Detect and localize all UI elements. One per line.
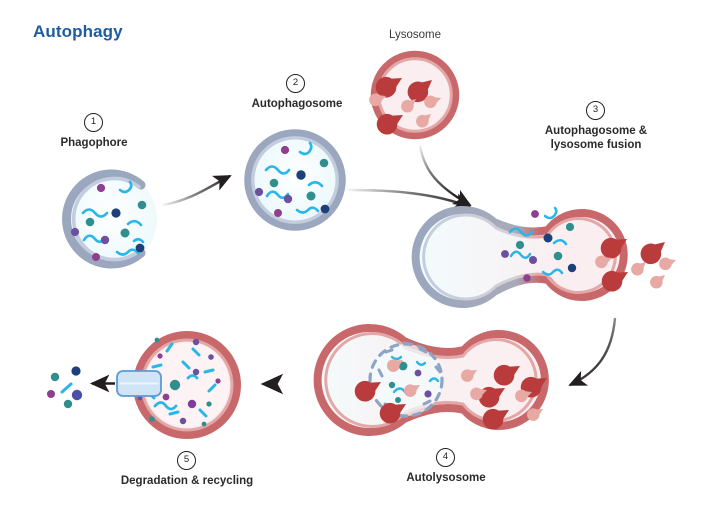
lysosome-graphic xyxy=(367,51,459,139)
arrow-fusion-to-autolysosome xyxy=(570,318,615,385)
arrow-phagophore-to-autophagosome xyxy=(163,176,230,205)
diagram-graphics xyxy=(0,0,720,530)
autophagy-diagram-canvas: Autophagy xyxy=(0,0,720,530)
stage-label-autolysosome: Autolysosome xyxy=(385,471,507,485)
stage-label-autophagosome: Autophagosome xyxy=(232,97,362,111)
stage-badge-4: 4 xyxy=(436,448,455,467)
stage-badge-3: 3 xyxy=(586,101,605,120)
stage-label-phagophore: Phagophore xyxy=(44,136,144,150)
stage-badge-1: 1 xyxy=(84,113,103,132)
stage-fusion-graphic xyxy=(416,208,679,304)
stage-degradation-graphic xyxy=(47,331,241,439)
stage-phagophore-graphic xyxy=(63,172,157,266)
stage-autophagosome-graphic xyxy=(245,130,345,230)
stage-badge-2: 2 xyxy=(286,74,305,93)
stage-label-degradation: Degradation & recycling xyxy=(106,474,268,488)
released-molecules xyxy=(47,366,82,408)
stage-label-fusion: Autophagosome & lysosome fusion xyxy=(520,124,672,152)
lysosome-label: Lysosome xyxy=(365,28,465,42)
stage-badge-5: 5 xyxy=(177,451,196,470)
stage-autolysosome-graphic xyxy=(318,328,553,433)
